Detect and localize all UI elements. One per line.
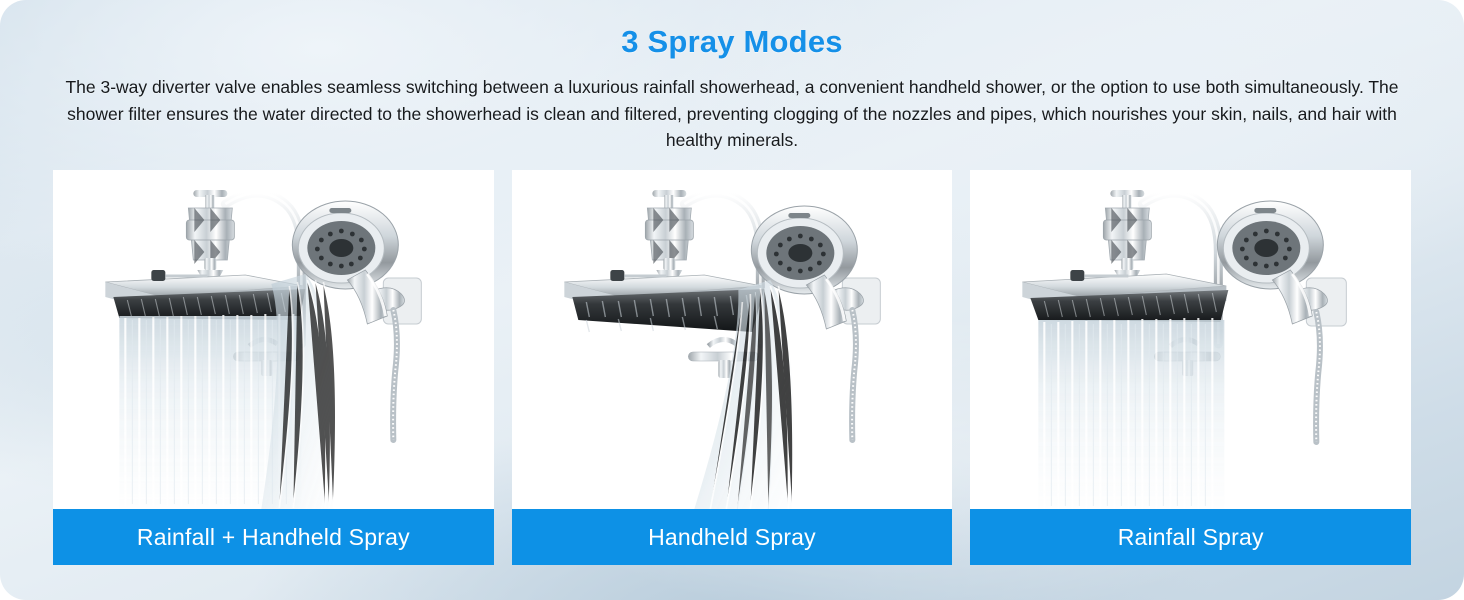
shower-illustration-handheld [512,170,953,509]
shower-illustration-both [53,170,494,509]
banner-header: 3 Spray Modes The 3-way diverter valve e… [0,0,1464,154]
caption-bar-3: Rainfall Spray [970,509,1411,565]
spray-mode-card-1[interactable]: Rainfall + Handheld Spray [53,170,494,565]
rainfall-showerhead-icon [1023,270,1229,322]
spray-mode-panels: Rainfall + Handheld Spray [53,170,1411,565]
rainfall-showerhead-icon [564,270,764,332]
diverter-knob-icon [1071,270,1085,281]
promo-banner: 3 Spray Modes The 3-way diverter valve e… [0,0,1464,600]
diverter-knob-icon [151,270,165,281]
product-photo-2 [512,170,953,509]
spray-mode-card-2[interactable]: Handheld Spray [512,170,953,565]
caption-bar-2: Handheld Spray [512,509,953,565]
shower-illustration-rainfall [970,170,1411,509]
diverter-knob-icon [610,270,624,281]
caption-bar-1: Rainfall + Handheld Spray [53,509,494,565]
rainfall-water-stream [1039,318,1225,509]
page-description: The 3-way diverter valve enables seamles… [13,74,1451,154]
spray-mode-card-3[interactable]: Rainfall Spray [970,170,1411,565]
handheld-showerhead-icon [1218,201,1324,324]
product-photo-1 [53,170,494,509]
page-title: 3 Spray Modes [0,0,1464,60]
product-photo-3 [970,170,1411,509]
